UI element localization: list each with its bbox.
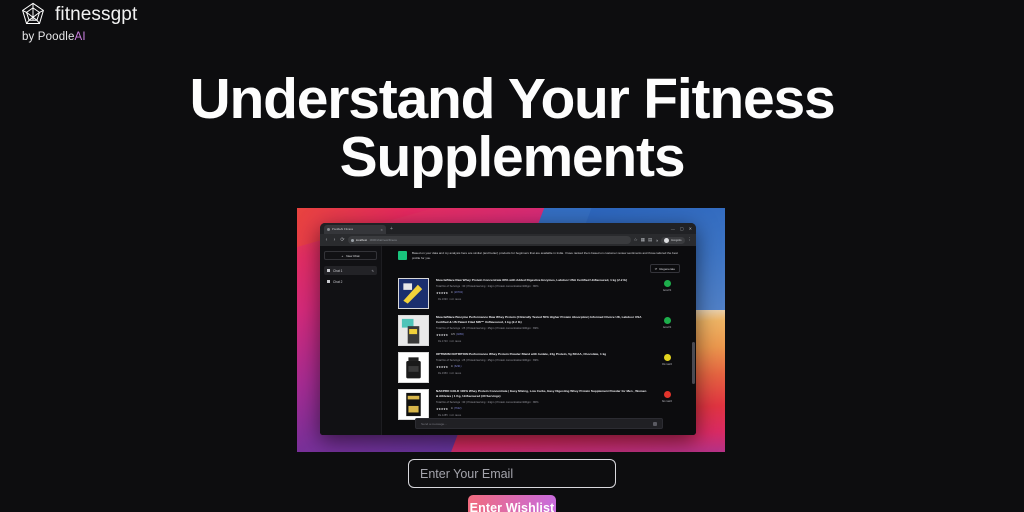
brand-byline-accent: AI	[75, 31, 86, 43]
browser-window: PoodleAI Fitness ✕ + — ▢ ✕ ‹ › ⟳ localho…	[320, 223, 696, 435]
headline-line-2: Supplements	[340, 125, 685, 189]
message-composer[interactable]: Send a message...	[415, 418, 663, 429]
refresh-icon: ⟳	[655, 267, 658, 271]
product-title: MuscleBlaze Biozyme Performance Raw Whey…	[436, 315, 647, 324]
status-badge-label: Ok match	[654, 363, 680, 366]
status-badge: No match	[654, 389, 680, 403]
arrow-left-icon[interactable]: ‹	[324, 237, 329, 243]
product-thumbnail	[398, 315, 429, 346]
product-row[interactable]: MuscleBlaze Biozyme Performance Raw Whey…	[398, 315, 680, 346]
close-icon[interactable]: ✕	[689, 226, 692, 231]
product-price-value: Rs.1720	[438, 340, 448, 343]
sidebar-item-chat-1[interactable]: Chat 1 ✎	[324, 266, 377, 275]
address-bar[interactable]: localhost:3000/chat/new/fitness	[348, 236, 631, 244]
product-rating: ★★★★★ 4 (7622)	[436, 407, 647, 411]
product-thumbnail	[398, 278, 429, 309]
product-price: Rs.1285incl. taxes	[436, 413, 647, 417]
product-price: Rs.1720incl. taxes	[436, 339, 647, 343]
brand-byline: by PoodleAI	[22, 31, 137, 43]
browser-tab-title: PoodleAI Fitness	[332, 228, 353, 231]
pencil-icon[interactable]: ✎	[371, 269, 374, 273]
product-result-list: MuscleBlaze Raw Whey Protein Concentrate…	[398, 278, 680, 420]
sidebar-item-label: Chat 2	[333, 280, 342, 284]
product-rating-value: 4.5	[451, 333, 455, 336]
product-row[interactable]: NAKPRO GOLD 100% Whey Protein Concentrat…	[398, 389, 680, 420]
browser-toolbar: ‹ › ⟳ localhost:3000/chat/new/fitness ☆ …	[320, 234, 696, 246]
incognito-label: Incognito	[671, 239, 682, 242]
chat-icon	[327, 280, 330, 283]
star-icon[interactable]: ☆	[634, 237, 638, 243]
new-chat-label: New Chat	[346, 254, 359, 258]
product-rating: ★★★★★ 4.5 (9283)	[436, 333, 647, 337]
close-icon[interactable]: ✕	[380, 228, 383, 232]
sidebar-item-label: Chat 1	[333, 269, 342, 273]
status-dot-icon	[664, 354, 671, 361]
product-demo-screenshot: PoodleAI Fitness ✕ + — ▢ ✕ ‹ › ⟳ localho…	[297, 208, 725, 452]
status-badge-label: Good fit	[654, 289, 680, 292]
product-price: Rs.1690incl. taxes	[436, 297, 647, 301]
maximize-icon[interactable]: ▢	[680, 226, 684, 231]
browser-tab[interactable]: PoodleAI Fitness ✕	[324, 225, 386, 234]
icosahedron-icon	[20, 2, 46, 28]
incognito-icon	[664, 238, 669, 243]
product-price-note: incl. taxes	[450, 340, 462, 343]
url-host: localhost	[356, 238, 367, 242]
star-icon: ★★★★★	[436, 365, 448, 369]
favicon-icon	[327, 228, 330, 231]
product-price-note: incl. taxes	[450, 298, 462, 301]
product-meta: Total No of Servings : 30 | Protein/serv…	[436, 401, 647, 405]
window-controls: — ▢ ✕	[671, 226, 692, 231]
reload-icon[interactable]: ⟳	[340, 237, 345, 243]
regenerate-button[interactable]: ⟳ Regenerate	[650, 264, 680, 273]
product-title: MuscleBlaze Raw Whey Protein Concentrate…	[436, 278, 647, 283]
product-info: OPTIMUM NUTRITION Performance Whey Prote…	[436, 352, 647, 375]
status-badge: Good fit	[654, 278, 680, 292]
vertical-scrollbar[interactable]	[692, 342, 695, 384]
product-price-value: Rs.1285	[438, 414, 448, 417]
lock-icon	[351, 239, 354, 242]
status-dot-icon	[664, 280, 671, 287]
product-price-value: Rs.3350	[438, 372, 448, 375]
puzzle-icon[interactable]: ▦	[641, 237, 645, 243]
brand-block: fitnessgpt by PoodleAI	[20, 2, 137, 43]
status-badge: Ok match	[654, 352, 680, 366]
product-review-count[interactable]: (20702)	[454, 291, 463, 294]
star-icon: ★★★★★	[436, 333, 448, 337]
assistant-message-text: Based on your data and my analysis here …	[412, 251, 680, 260]
email-field[interactable]	[408, 459, 616, 488]
product-rating-value: 4	[451, 407, 453, 410]
status-dot-icon	[664, 391, 671, 398]
chat-icon	[327, 269, 330, 272]
product-review-count[interactable]: (9283)	[456, 333, 464, 336]
status-badge: Good fit	[654, 315, 680, 329]
product-rating: ★★★★★ 4 (20702)	[436, 291, 647, 295]
product-rating-value: 4	[451, 365, 453, 368]
new-chat-button[interactable]: + New Chat	[324, 251, 377, 260]
product-info: NAKPRO GOLD 100% Whey Protein Concentrat…	[436, 389, 647, 416]
regenerate-label: Regenerate	[659, 267, 675, 271]
brand-row[interactable]: fitnessgpt	[20, 2, 137, 28]
assistant-avatar-icon	[398, 251, 407, 260]
assistant-message: Based on your data and my analysis here …	[398, 251, 680, 260]
product-price: Rs.3350incl. taxes	[436, 371, 647, 375]
app-sidebar: + New Chat Chat 1 ✎ Chat 2	[320, 246, 382, 435]
product-info: MuscleBlaze Raw Whey Protein Concentrate…	[436, 278, 647, 301]
regenerate-row: ⟳ Regenerate	[398, 264, 680, 273]
product-row[interactable]: OPTIMUM NUTRITION Performance Whey Prote…	[398, 352, 680, 383]
avatar-icon[interactable]: ◑	[655, 238, 658, 243]
plus-icon: +	[342, 254, 344, 258]
app-viewport: + New Chat Chat 1 ✎ Chat 2 Based on your	[320, 246, 696, 435]
product-thumbnail	[398, 389, 429, 420]
product-rating: ★★★★★ 4 (6291)	[436, 365, 647, 369]
send-icon[interactable]	[653, 422, 657, 426]
brand-name: fitnessgpt	[55, 4, 137, 26]
composer-placeholder: Send a message...	[421, 422, 447, 426]
product-meta: Total No of Servings : 30 | Protein/serv…	[436, 285, 647, 289]
enter-wishlist-button[interactable]: Enter Wishlist	[468, 495, 556, 512]
product-thumbnail	[398, 352, 429, 383]
star-icon: ★★★★★	[436, 291, 448, 295]
status-dot-icon	[664, 317, 671, 324]
split-icon[interactable]: ▤	[648, 237, 652, 243]
product-meta: Total No of Servings : 25 | Protein/serv…	[436, 327, 647, 331]
kebab-menu-icon[interactable]: ⋮	[688, 237, 693, 243]
product-title: OPTIMUM NUTRITION Performance Whey Prote…	[436, 352, 647, 357]
incognito-indicator[interactable]: Incognito	[661, 237, 685, 244]
product-review-count[interactable]: (7622)	[454, 407, 462, 410]
arrow-right-icon[interactable]: ›	[332, 237, 337, 243]
status-badge-label: No match	[654, 400, 680, 403]
product-price-note: incl. taxes	[450, 414, 462, 417]
product-row[interactable]: MuscleBlaze Raw Whey Protein Concentrate…	[398, 278, 680, 309]
sidebar-item-chat-2[interactable]: Chat 2	[324, 277, 377, 286]
product-price-note: incl. taxes	[450, 372, 462, 375]
page-title: Understand Your Fitness Supplements	[0, 70, 1024, 186]
minimize-icon[interactable]: —	[671, 226, 675, 231]
product-review-count[interactable]: (6291)	[454, 365, 462, 368]
browser-tab-bar: PoodleAI Fitness ✕ + — ▢ ✕	[320, 223, 696, 234]
url-path: :3000/chat/new/fitness	[369, 238, 397, 242]
plus-icon[interactable]: +	[388, 225, 395, 234]
product-title: NAKPRO GOLD 100% Whey Protein Concentrat…	[436, 389, 647, 398]
chat-main: Based on your data and my analysis here …	[382, 246, 696, 435]
product-rating-value: 4	[451, 291, 453, 294]
product-meta: Total No of Servings : 25 | Protein/serv…	[436, 359, 647, 363]
star-icon: ★★★★★	[436, 407, 448, 411]
status-badge-label: Good fit	[654, 326, 680, 329]
product-info: MuscleBlaze Biozyme Performance Raw Whey…	[436, 315, 647, 342]
headline-line-1: Understand Your Fitness	[190, 67, 835, 131]
product-price-value: Rs.1690	[438, 298, 448, 301]
brand-byline-prefix: by Poodle	[22, 31, 75, 43]
